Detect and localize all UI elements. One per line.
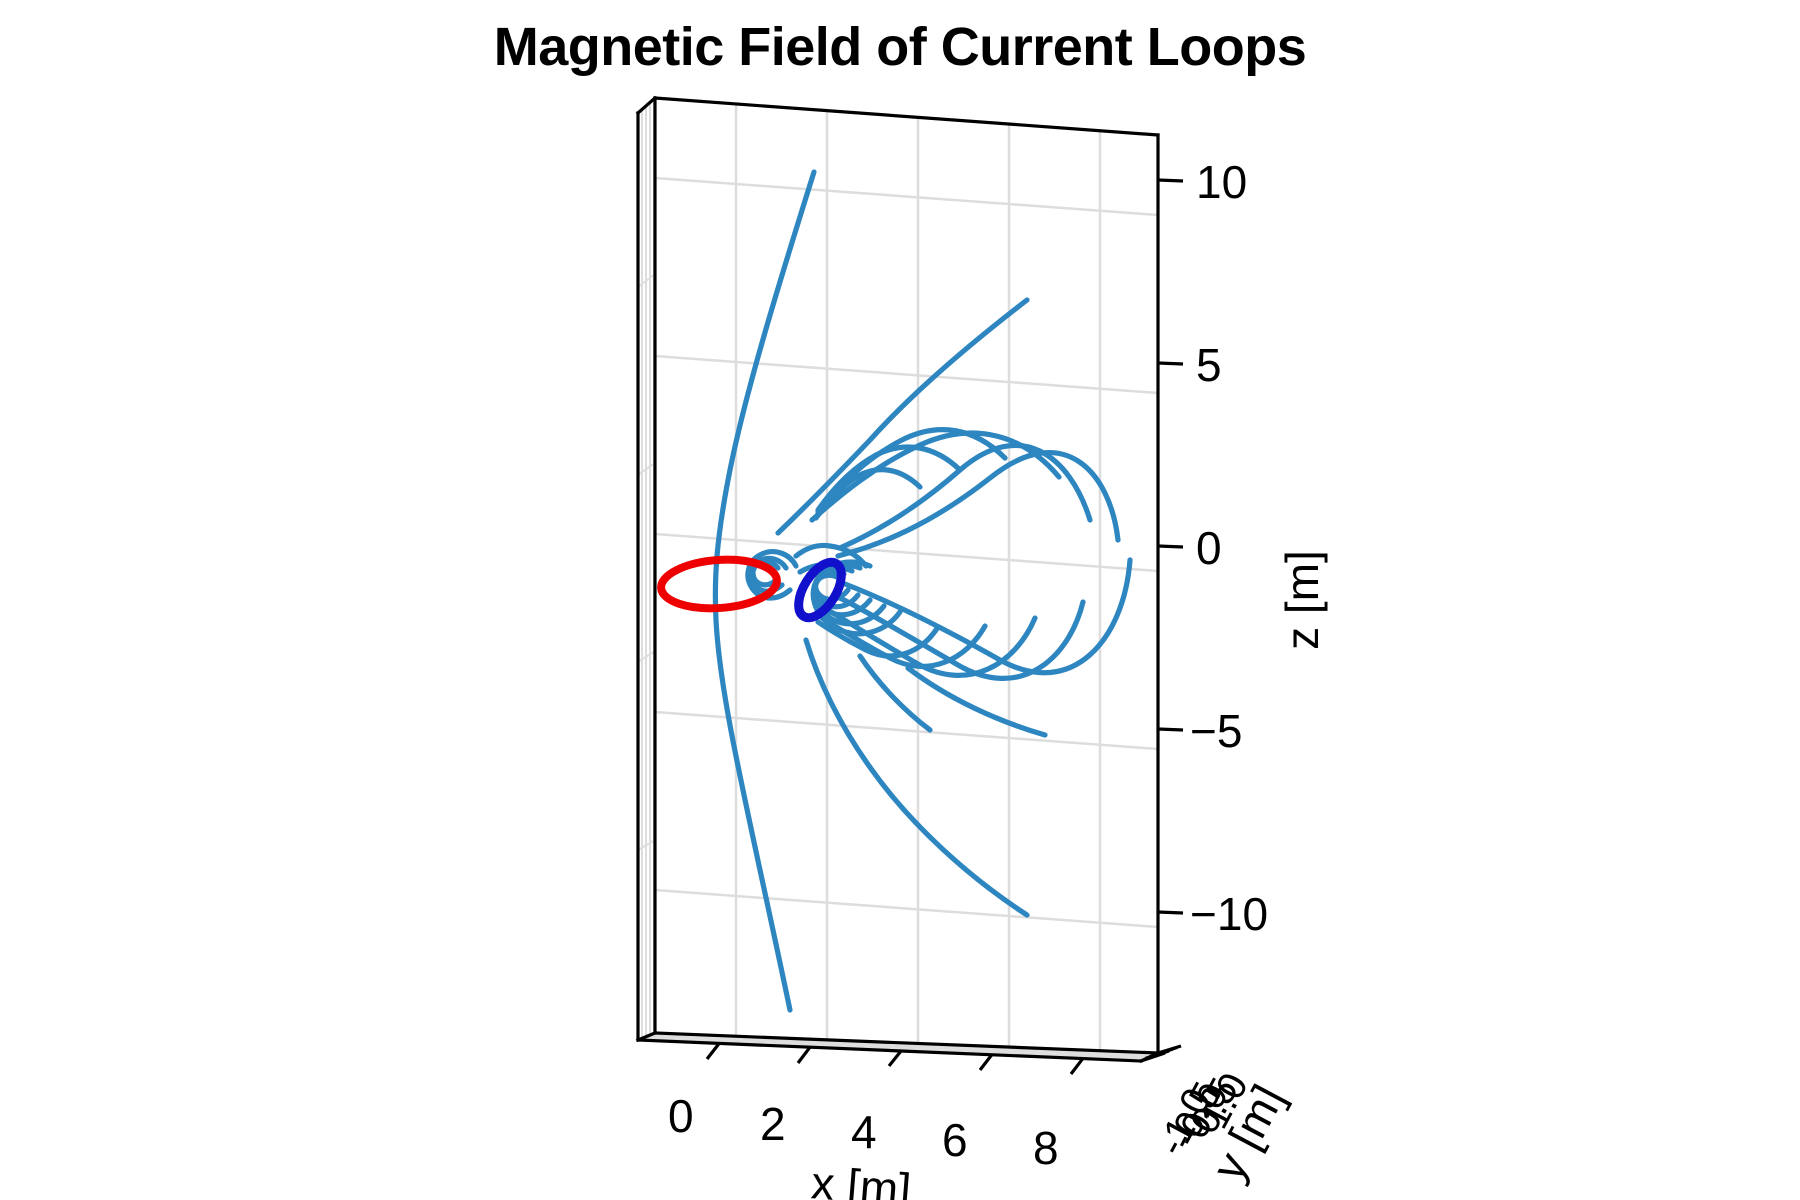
back-wall-pane [655, 98, 1158, 1053]
x-tick-label: 6 [942, 1114, 968, 1166]
z-tick-label: 0 [1196, 522, 1222, 574]
z-axis-label: z [m] [1276, 550, 1328, 650]
z-tick-label: 10 [1196, 156, 1247, 208]
side-wall-pane [638, 98, 655, 1040]
z-axis-ticklabels: 10 5 0 −5 −10 [1190, 156, 1268, 940]
x-axis-label: x [m] [810, 1156, 913, 1200]
figure-canvas: Magnetic Field of Current Loops [0, 0, 1800, 1200]
z-axis-ticks [1158, 180, 1183, 913]
x-axis-label-group: x [m] [810, 1156, 913, 1200]
x-tick-label: 4 [851, 1106, 877, 1158]
z-tick-label: −10 [1190, 888, 1268, 940]
y-axis-ticklabels: -1.0 -0.5 0.0 0.5 1.0 y [m] [1149, 1066, 1294, 1189]
magnetic-field-3d-plot: 10 5 0 −5 −10 z [m] 0 2 4 6 8 x [m] [0, 0, 1800, 1200]
z-axis-label-group: z [m] [1276, 550, 1328, 650]
z-tick-label: −5 [1190, 705, 1242, 757]
z-tick-label: 5 [1196, 339, 1222, 391]
x-tick-label: 0 [668, 1090, 694, 1142]
x-tick-label: 2 [760, 1098, 786, 1150]
x-tick-label: 8 [1033, 1122, 1059, 1174]
